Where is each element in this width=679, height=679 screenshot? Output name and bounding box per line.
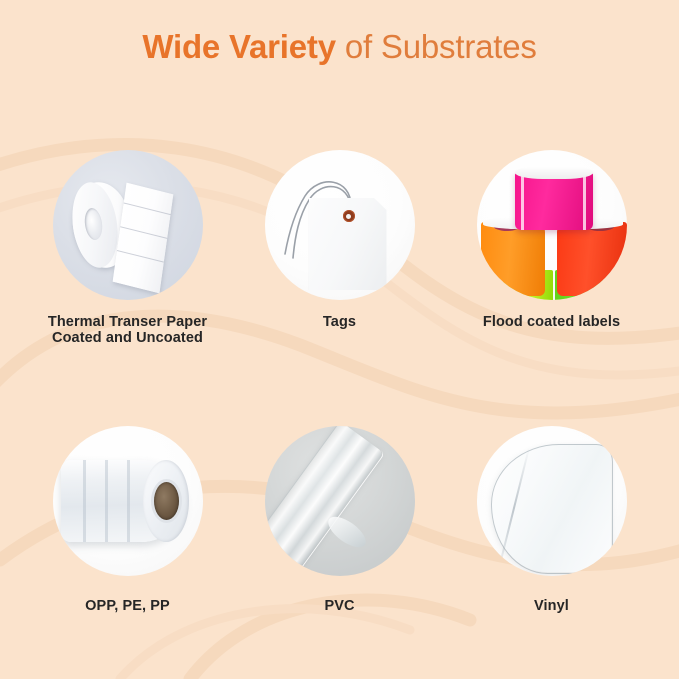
- substrate-caption: Tags: [323, 314, 356, 330]
- substrate-item-vinyl[interactable]: Vinyl: [446, 426, 658, 614]
- substrate-grid: Thermal Transer Paper Coated and Uncoate…: [0, 150, 679, 614]
- stretch-film-roll-image: [53, 426, 203, 576]
- title-strong-text: Wide Variety: [142, 28, 336, 65]
- substrate-caption: PVC: [324, 598, 354, 614]
- substrate-item-opp-pe-pp[interactable]: OPP, PE, PP: [22, 426, 234, 614]
- substrate-row-bottom: OPP, PE, PP PVC Vinyl: [0, 426, 679, 614]
- title-light-text: of Substrates: [336, 28, 537, 65]
- substrate-caption: Thermal Transer Paper Coated and Uncoate…: [48, 314, 207, 346]
- substrate-caption: Vinyl: [534, 598, 569, 614]
- fluorescent-label-rolls-image: [477, 150, 627, 300]
- substrate-item-tags[interactable]: Tags: [234, 150, 446, 330]
- substrate-caption: Flood coated labels: [483, 314, 620, 330]
- shipping-tag-image: [265, 150, 415, 300]
- clear-pvc-sheet-image: [265, 426, 415, 576]
- substrate-row-top: Thermal Transer Paper Coated and Uncoate…: [0, 150, 679, 346]
- substrate-item-flood-coated-labels[interactable]: Flood coated labels: [446, 150, 658, 330]
- thermal-label-roll-image: [53, 150, 203, 300]
- substrate-item-pvc[interactable]: PVC: [234, 426, 446, 614]
- page-title: Wide Variety of Substrates: [0, 26, 679, 68]
- substrate-caption: OPP, PE, PP: [85, 598, 170, 614]
- clear-vinyl-sheet-image: [477, 426, 627, 576]
- substrate-item-thermal-transfer-paper[interactable]: Thermal Transer Paper Coated and Uncoate…: [22, 150, 234, 346]
